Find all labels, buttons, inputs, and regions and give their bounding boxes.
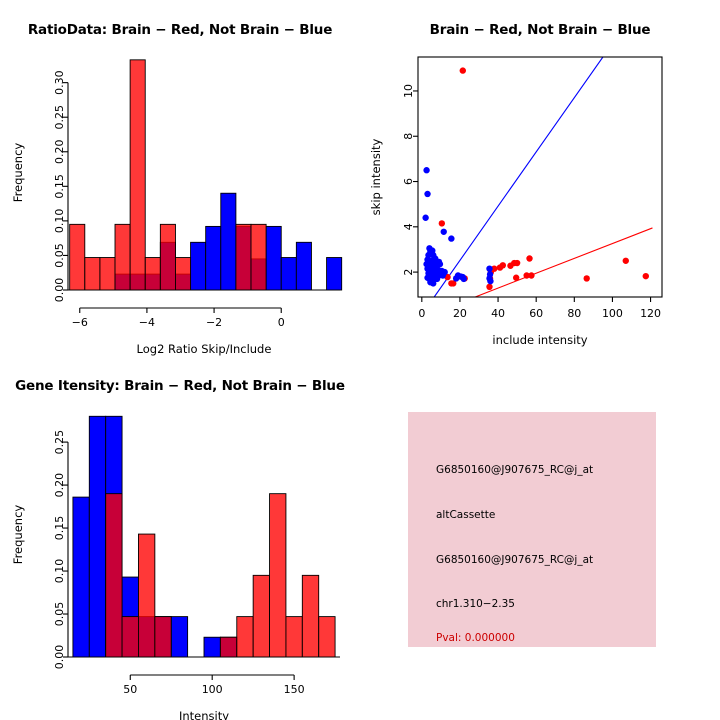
scatter-point	[584, 275, 590, 281]
scatter-point	[514, 260, 520, 266]
info-line-locus: chr1.310−2.35	[436, 598, 515, 610]
histogram-bar	[270, 494, 286, 657]
scatter-point	[460, 67, 466, 73]
x-axis-title: Intensity	[179, 709, 229, 720]
histogram-bar	[115, 224, 130, 290]
histogram-bar	[221, 193, 236, 290]
histogram-bar	[302, 575, 318, 657]
info-line-probe-id: G6850160@J907675_RC@j_at	[436, 464, 593, 476]
histogram-bar	[319, 617, 335, 657]
scatter-point	[623, 258, 629, 264]
info-line-gene-id: G6850160@J907675_RC@j_at	[436, 554, 593, 566]
scatter-point	[453, 275, 459, 281]
panel-gene-intensity-histogram: Gene Itensity: Brain − Red, Not Brain − …	[0, 360, 360, 720]
y-tick-label: 0.30	[53, 70, 66, 95]
histogram-bar	[130, 60, 145, 290]
scatter-point	[441, 229, 447, 235]
histogram-bar	[281, 258, 296, 290]
histogram-bar	[251, 224, 266, 290]
y-tick-label: 0.10	[53, 559, 66, 584]
histogram-bar	[220, 637, 236, 657]
x-tick-label: 150	[284, 683, 305, 696]
scatter-point	[440, 272, 446, 278]
y-axis-title: skip intensity	[369, 138, 383, 215]
histogram-bar	[236, 224, 251, 290]
scatter-canvas: 246810skip intensity020406080100120inclu…	[360, 0, 720, 360]
histogram-bar	[191, 242, 206, 290]
scatter-point	[448, 235, 454, 241]
histogram-bar	[73, 497, 89, 657]
x-tick-label: 80	[567, 307, 581, 320]
histogram-bar	[204, 637, 220, 657]
scatter-point	[486, 265, 492, 271]
y-tick-label: 0.20	[53, 473, 66, 498]
y-tick-label: 0.10	[53, 209, 66, 234]
scatter-point	[439, 220, 445, 226]
scatter-point	[437, 261, 443, 267]
x-tick-label: 100	[602, 307, 623, 320]
scatter-point	[424, 191, 430, 197]
panel-gene-info: G6850160@J907675_RC@j_at altCassette G68…	[360, 360, 720, 720]
y-tick-label: 8	[402, 133, 415, 140]
x-tick-label: −2	[206, 316, 222, 329]
scatter-point	[528, 272, 534, 278]
y-tick-label: 0.15	[53, 516, 66, 541]
scatter-point	[430, 280, 436, 286]
x-tick-label: −4	[139, 316, 155, 329]
y-tick-label: 0.00	[53, 278, 66, 303]
y-tick-label: 0.00	[53, 645, 66, 670]
histogram-bar	[175, 258, 190, 290]
scatter-point	[513, 275, 519, 281]
histogram-bar	[286, 617, 302, 657]
x-tick-label: 100	[202, 683, 223, 696]
histogram-bar	[327, 258, 342, 290]
y-tick-label: 6	[402, 178, 415, 185]
scatter-point	[526, 255, 532, 261]
gene-histogram-canvas: 0.000.050.100.150.200.25Frequency5010015…	[0, 360, 360, 720]
histogram-bar	[155, 617, 171, 657]
x-tick-label: 120	[640, 307, 661, 320]
y-tick-label: 0.05	[53, 243, 66, 267]
scatter-plot-area	[422, 57, 652, 297]
x-tick-label: 60	[529, 307, 543, 320]
scatter-point	[500, 262, 506, 268]
scatter-point	[486, 284, 492, 290]
y-tick-label: 0.15	[53, 174, 66, 199]
ratio-histogram-canvas: 0.000.050.100.150.200.250.30Frequency−6−…	[0, 0, 360, 360]
histogram-bar	[237, 617, 253, 657]
histogram-bar	[106, 494, 122, 657]
y-tick-label: 10	[402, 84, 415, 98]
x-axis-title: Log2 Ratio Skip/Include	[137, 342, 272, 356]
x-tick-label: 20	[453, 307, 467, 320]
y-tick-label: 2	[402, 269, 415, 276]
panel-ratio-histogram: RatioData: Brain − Red, Not Brain − Blue…	[0, 0, 360, 360]
y-tick-label: 4	[402, 223, 415, 230]
info-line-event-type: altCassette	[436, 509, 495, 521]
histogram-bar	[85, 258, 100, 290]
panel-intensity-scatter: Brain − Red, Not Brain − Blue 246810skip…	[360, 0, 720, 360]
histogram-bar	[100, 258, 115, 290]
scatter-point	[487, 278, 493, 284]
y-axis-title: Frequency	[11, 143, 25, 203]
histogram-bar	[70, 224, 85, 290]
scatter-point	[461, 276, 467, 282]
y-tick-label: 0.25	[53, 430, 66, 455]
x-tick-label: −6	[72, 316, 88, 329]
histogram-bar	[266, 226, 281, 290]
scatter-point	[422, 215, 428, 221]
y-tick-label: 0.05	[53, 602, 66, 627]
y-tick-label: 0.20	[53, 140, 66, 165]
x-tick-label: 0	[418, 307, 425, 320]
info-line-pvalue: Pval: 0.000000	[436, 632, 515, 644]
histogram-bar	[122, 617, 138, 657]
histogram-bar	[296, 242, 311, 290]
histogram-bar	[160, 224, 175, 290]
scatter-point	[423, 167, 429, 173]
histogram-bar	[206, 226, 221, 290]
gene-info-box: G6850160@J907675_RC@j_at altCassette G68…	[408, 412, 656, 647]
y-tick-label: 0.25	[53, 105, 66, 129]
x-tick-label: 0	[278, 316, 285, 329]
x-axis-title: include intensity	[492, 333, 587, 347]
histogram-bar	[253, 575, 269, 657]
histogram-bar	[138, 534, 154, 657]
histogram-bar	[145, 258, 160, 290]
x-tick-label: 50	[123, 683, 137, 696]
histogram-bar	[171, 617, 187, 657]
x-tick-label: 40	[491, 307, 505, 320]
y-axis-title: Frequency	[11, 505, 25, 565]
histogram-bar	[89, 416, 105, 657]
scatter-point	[643, 273, 649, 279]
